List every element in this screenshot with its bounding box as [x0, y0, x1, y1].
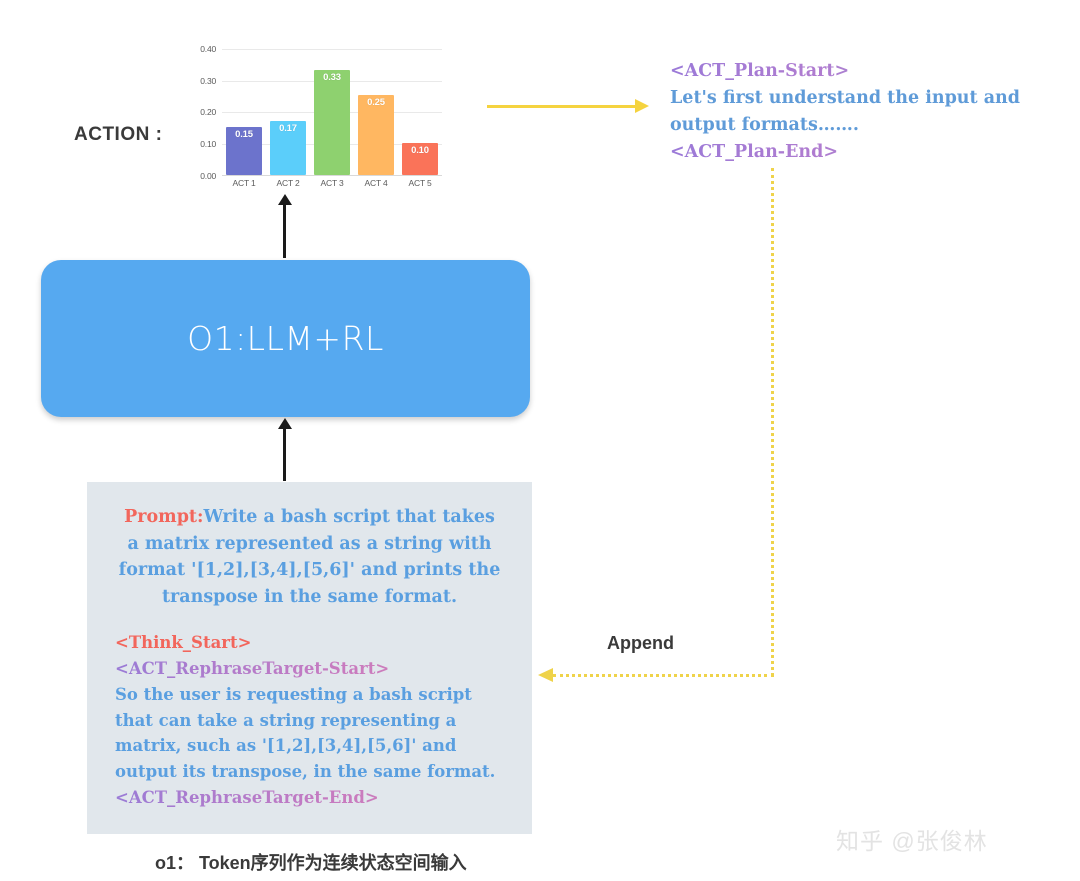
prompt-header-line: format '[1,2],[3,4],[5,6]' and prints th…: [119, 560, 501, 580]
bar-column: 0.10: [402, 36, 438, 175]
chart-x-axis: [222, 175, 442, 176]
bar-value-label: 0.25: [367, 97, 385, 108]
bar-column: 0.33: [314, 36, 350, 175]
x-axis-tick-label: ACT 3: [314, 178, 350, 188]
bar-column: 0.25: [358, 36, 394, 175]
zhihu-watermark: 知乎 @张俊林: [836, 822, 988, 856]
y-axis-tick-label: 0.20: [182, 107, 216, 117]
prompt-header: Prompt:Write a bash script that takesa m…: [109, 504, 510, 610]
figure-caption: o1： Token序列作为连续状态空间输入: [155, 849, 467, 875]
y-axis-tick-label: 0.30: [182, 76, 216, 86]
model-box: O1:LLM+RL: [41, 260, 530, 417]
bar: 0.33: [314, 70, 350, 175]
arrow-action-to-plan-head: [635, 99, 649, 113]
prompt-box: Prompt:Write a bash script that takesa m…: [87, 482, 532, 834]
y-axis-tick-label: 0.00: [182, 171, 216, 181]
prompt-header-line: Write a bash script that takes: [203, 507, 494, 527]
chart-bars: 0.150.170.330.250.10: [222, 36, 442, 175]
prompt-tag-line: <ACT_RephraseTarget-End>: [115, 785, 518, 811]
bar-column: 0.17: [270, 36, 306, 175]
action-label: ACTION :: [74, 124, 162, 146]
bar-value-label: 0.15: [235, 129, 253, 140]
arrow-prompt-to-model: [283, 427, 286, 481]
act-plan-tag-line: <ACT_Plan-End>: [670, 139, 1040, 166]
prompt-header-line: transpose in the same format.: [162, 587, 457, 607]
x-axis-tick-label: ACT 1: [226, 178, 262, 188]
model-box-title: O1:LLM+RL: [187, 319, 384, 358]
prompt-tag-line: <ACT_RephraseTarget-Start>: [115, 656, 518, 682]
act-plan-output-block: <ACT_Plan-Start>Let's first understand t…: [670, 58, 1040, 167]
act-plan-body-line: Let's first understand the input and: [670, 85, 1040, 112]
prompt-body-line: So the user is requesting a bash script: [115, 682, 518, 708]
prompt-label: Prompt:: [124, 507, 203, 527]
append-path-horizontal: [553, 674, 774, 677]
act-plan-tag-line: <ACT_Plan-Start>: [670, 58, 1040, 85]
prompt-body: <Think_Start><ACT_RephraseTarget-Start>S…: [101, 630, 518, 810]
prompt-body-line: output its transpose, in the same format…: [115, 759, 518, 785]
action-probability-bar-chart: 0.150.170.330.250.10 0.000.100.200.300.4…: [186, 28, 448, 193]
y-axis-tick-label: 0.10: [182, 139, 216, 149]
bar-value-label: 0.17: [279, 123, 297, 134]
append-label: Append: [607, 633, 674, 654]
x-axis-tick-label: ACT 5: [402, 178, 438, 188]
prompt-header-line: a matrix represented as a string with: [127, 534, 491, 554]
bar-value-label: 0.33: [323, 72, 341, 83]
bar: 0.25: [358, 95, 394, 175]
prompt-tag-line: <Think_Start>: [115, 630, 518, 656]
chart-plot-area: 0.150.170.330.250.10: [222, 36, 442, 176]
x-axis-tick-label: ACT 4: [358, 178, 394, 188]
bar-column: 0.15: [226, 36, 262, 175]
append-path-arrowhead: [538, 668, 553, 682]
prompt-body-line: matrix, such as '[1,2],[3,4],[5,6]' and: [115, 733, 518, 759]
chart-x-axis-labels: ACT 1ACT 2ACT 3ACT 4ACT 5: [222, 178, 442, 188]
x-axis-tick-label: ACT 2: [270, 178, 306, 188]
bar: 0.15: [226, 127, 262, 175]
bar: 0.10: [402, 143, 438, 175]
y-axis-tick-label: 0.40: [182, 44, 216, 54]
act-plan-body-line: output formats…….: [670, 112, 1040, 139]
bar: 0.17: [270, 121, 306, 175]
prompt-body-line: that can take a string representing a: [115, 708, 518, 734]
arrow-action-to-plan-line: [487, 105, 637, 108]
arrow-model-to-action: [283, 203, 286, 258]
bar-value-label: 0.10: [411, 145, 429, 156]
diagram-canvas: ACTION : 0.150.170.330.250.10 0.000.100.…: [0, 0, 1080, 881]
append-path-vertical: [771, 168, 774, 676]
